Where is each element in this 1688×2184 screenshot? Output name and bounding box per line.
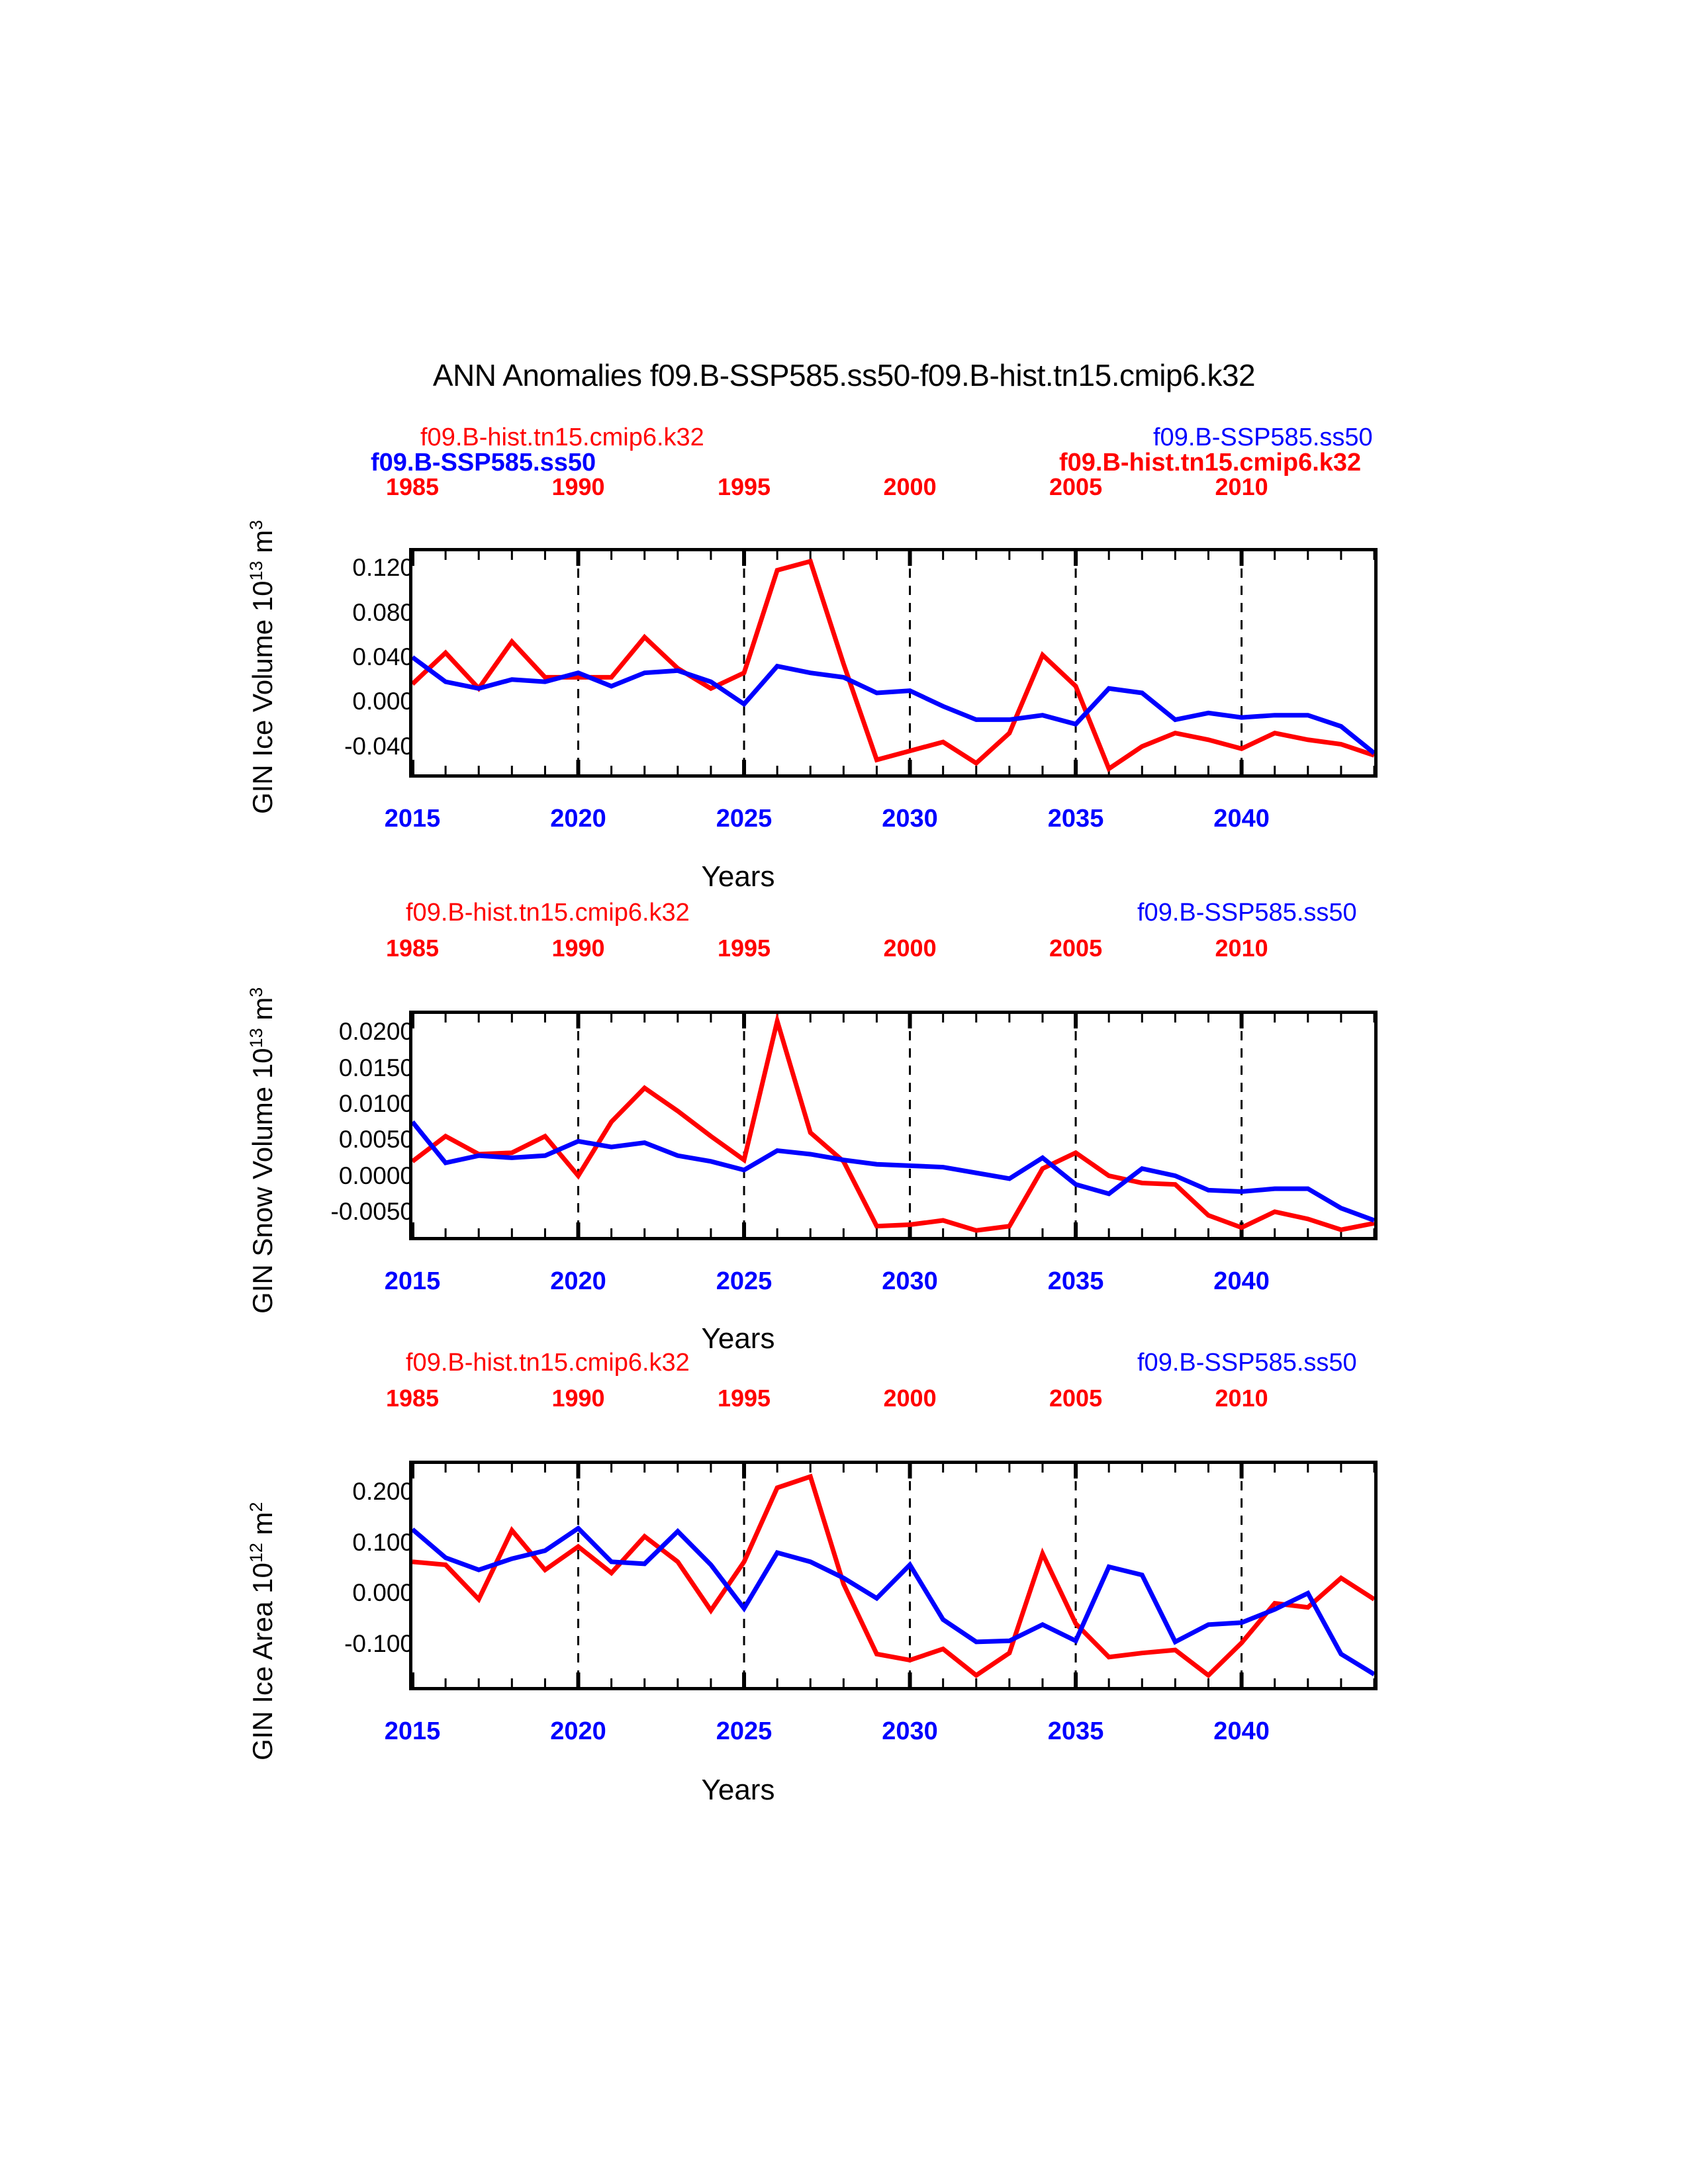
plot-svg-p3: [412, 1464, 1374, 1687]
year-tick-2015: 2015: [385, 1717, 441, 1746]
bottom-year-axis-p2: 201520202025203020352040: [0, 1267, 1688, 1300]
y-tick-label: 0.0000: [339, 1162, 414, 1190]
year-tick-1985: 1985: [386, 934, 439, 962]
y-axis-title-exp-p1: 13: [246, 561, 266, 580]
y-tick-label: 0.100: [352, 1529, 414, 1557]
year-tick-2020: 2020: [550, 805, 606, 833]
year-tick-2015: 2015: [385, 805, 441, 833]
year-tick-2040: 2040: [1213, 1267, 1270, 1296]
year-tick-1995: 1995: [718, 473, 771, 501]
y-axis-title-p2: GIN Snow Volume 1013 m3: [246, 987, 279, 1314]
top-year-axis-p1: 198519901995200020052010: [0, 473, 1688, 502]
year-tick-2030: 2030: [882, 1267, 938, 1296]
y-axis-title-unit-exp-p2: 3: [246, 987, 266, 997]
legend-left-red-p1: f09.B-hist.tn15.cmip6.k32: [420, 424, 704, 452]
year-tick-2005: 2005: [1049, 934, 1102, 962]
year-tick-2020: 2020: [550, 1717, 606, 1746]
y-tick-label: 0.000: [352, 688, 414, 715]
y-tick-label: -0.040: [344, 733, 414, 760]
year-tick-2010: 2010: [1215, 1385, 1268, 1412]
legend-right-blue-p3: f09.B-SSP585.ss50: [1137, 1349, 1357, 1377]
y-tick-label: 0.040: [352, 643, 414, 671]
year-tick-2035: 2035: [1048, 1717, 1104, 1746]
y-axis-title-exp-p2: 13: [246, 1028, 266, 1048]
year-tick-2000: 2000: [884, 934, 937, 962]
x-axis-title-p3: Years: [0, 1774, 1582, 1807]
year-tick-2025: 2025: [716, 805, 773, 833]
y-tick-label: 0.120: [352, 554, 414, 582]
y-tick-label: 0.0200: [339, 1018, 414, 1046]
plot-svg-p1: [412, 551, 1374, 774]
year-tick-2000: 2000: [884, 1385, 937, 1412]
bottom-year-axis-p3: 201520202025203020352040: [0, 1717, 1688, 1751]
y-tick-label: -0.0050: [331, 1198, 414, 1226]
plot-area-p3: [409, 1461, 1378, 1690]
year-tick-2030: 2030: [882, 1717, 938, 1746]
page-title: ANN Anomalies f09.B-SSP585.ss50-f09.B-hi…: [0, 357, 1688, 393]
year-tick-2005: 2005: [1049, 1385, 1102, 1412]
year-tick-1990: 1990: [551, 473, 604, 501]
x-axis-title-p1: Years: [0, 860, 1582, 893]
y-axis-title-unit-p3: m: [247, 1512, 278, 1543]
y-axis-title-unit-p1: m: [247, 530, 278, 561]
figure-page: ANN Anomalies f09.B-SSP585.ss50-f09.B-hi…: [0, 0, 1688, 2184]
y-axis-title-exp-p3: 12: [246, 1543, 266, 1563]
y-axis-title-text-p1: GIN Ice Volume 10: [247, 580, 278, 814]
y-tick-label: 0.0050: [339, 1126, 414, 1154]
year-tick-2040: 2040: [1213, 805, 1270, 833]
year-tick-1990: 1990: [551, 934, 604, 962]
series-line: [412, 657, 1374, 753]
year-tick-2025: 2025: [716, 1717, 773, 1746]
year-tick-2025: 2025: [716, 1267, 773, 1296]
year-tick-2035: 2035: [1048, 1267, 1104, 1296]
y-tick-label: 0.200: [352, 1478, 414, 1506]
plot-area-p2: [409, 1011, 1378, 1240]
plot-svg-p2: [412, 1014, 1374, 1237]
legend-left-red-p3: f09.B-hist.tn15.cmip6.k32: [406, 1349, 690, 1377]
legend-right-blue-p1: f09.B-SSP585.ss50: [1153, 424, 1373, 452]
legend-right-blue-p2: f09.B-SSP585.ss50: [1137, 899, 1357, 927]
year-tick-1990: 1990: [551, 1385, 604, 1412]
top-year-axis-p2: 198519901995200020052010: [0, 934, 1688, 964]
y-axis-title-unit-exp-p3: 2: [246, 1502, 266, 1512]
y-axis-title-unit-p2: m: [247, 997, 278, 1028]
year-tick-2030: 2030: [882, 805, 938, 833]
y-tick-label: 0.0150: [339, 1054, 414, 1082]
series-line: [412, 1122, 1374, 1220]
year-tick-2040: 2040: [1213, 1717, 1270, 1746]
year-tick-2000: 2000: [884, 473, 937, 501]
year-tick-2020: 2020: [550, 1267, 606, 1296]
y-axis-title-unit-exp-p1: 3: [246, 520, 266, 530]
year-tick-1985: 1985: [386, 473, 439, 501]
series-line: [412, 1477, 1374, 1675]
year-tick-2015: 2015: [385, 1267, 441, 1296]
series-line: [412, 1021, 1374, 1230]
series-line: [412, 561, 1374, 768]
plot-area-p1: [409, 548, 1378, 778]
y-tick-label: 0.000: [352, 1579, 414, 1607]
y-tick-label: 0.0100: [339, 1090, 414, 1118]
year-tick-2005: 2005: [1049, 473, 1102, 501]
year-tick-1995: 1995: [718, 934, 771, 962]
y-axis-title-p1: GIN Ice Volume 1013 m3: [246, 520, 279, 814]
y-tick-label: -0.100: [344, 1630, 414, 1658]
legend-left-red-p2: f09.B-hist.tn15.cmip6.k32: [406, 899, 690, 927]
year-tick-2010: 2010: [1215, 934, 1268, 962]
top-year-axis-p3: 198519901995200020052010: [0, 1385, 1688, 1414]
year-tick-2010: 2010: [1215, 473, 1268, 501]
year-tick-1995: 1995: [718, 1385, 771, 1412]
year-tick-2035: 2035: [1048, 805, 1104, 833]
year-tick-1985: 1985: [386, 1385, 439, 1412]
bottom-year-axis-p1: 201520202025203020352040: [0, 805, 1688, 838]
y-tick-label: 0.080: [352, 599, 414, 627]
